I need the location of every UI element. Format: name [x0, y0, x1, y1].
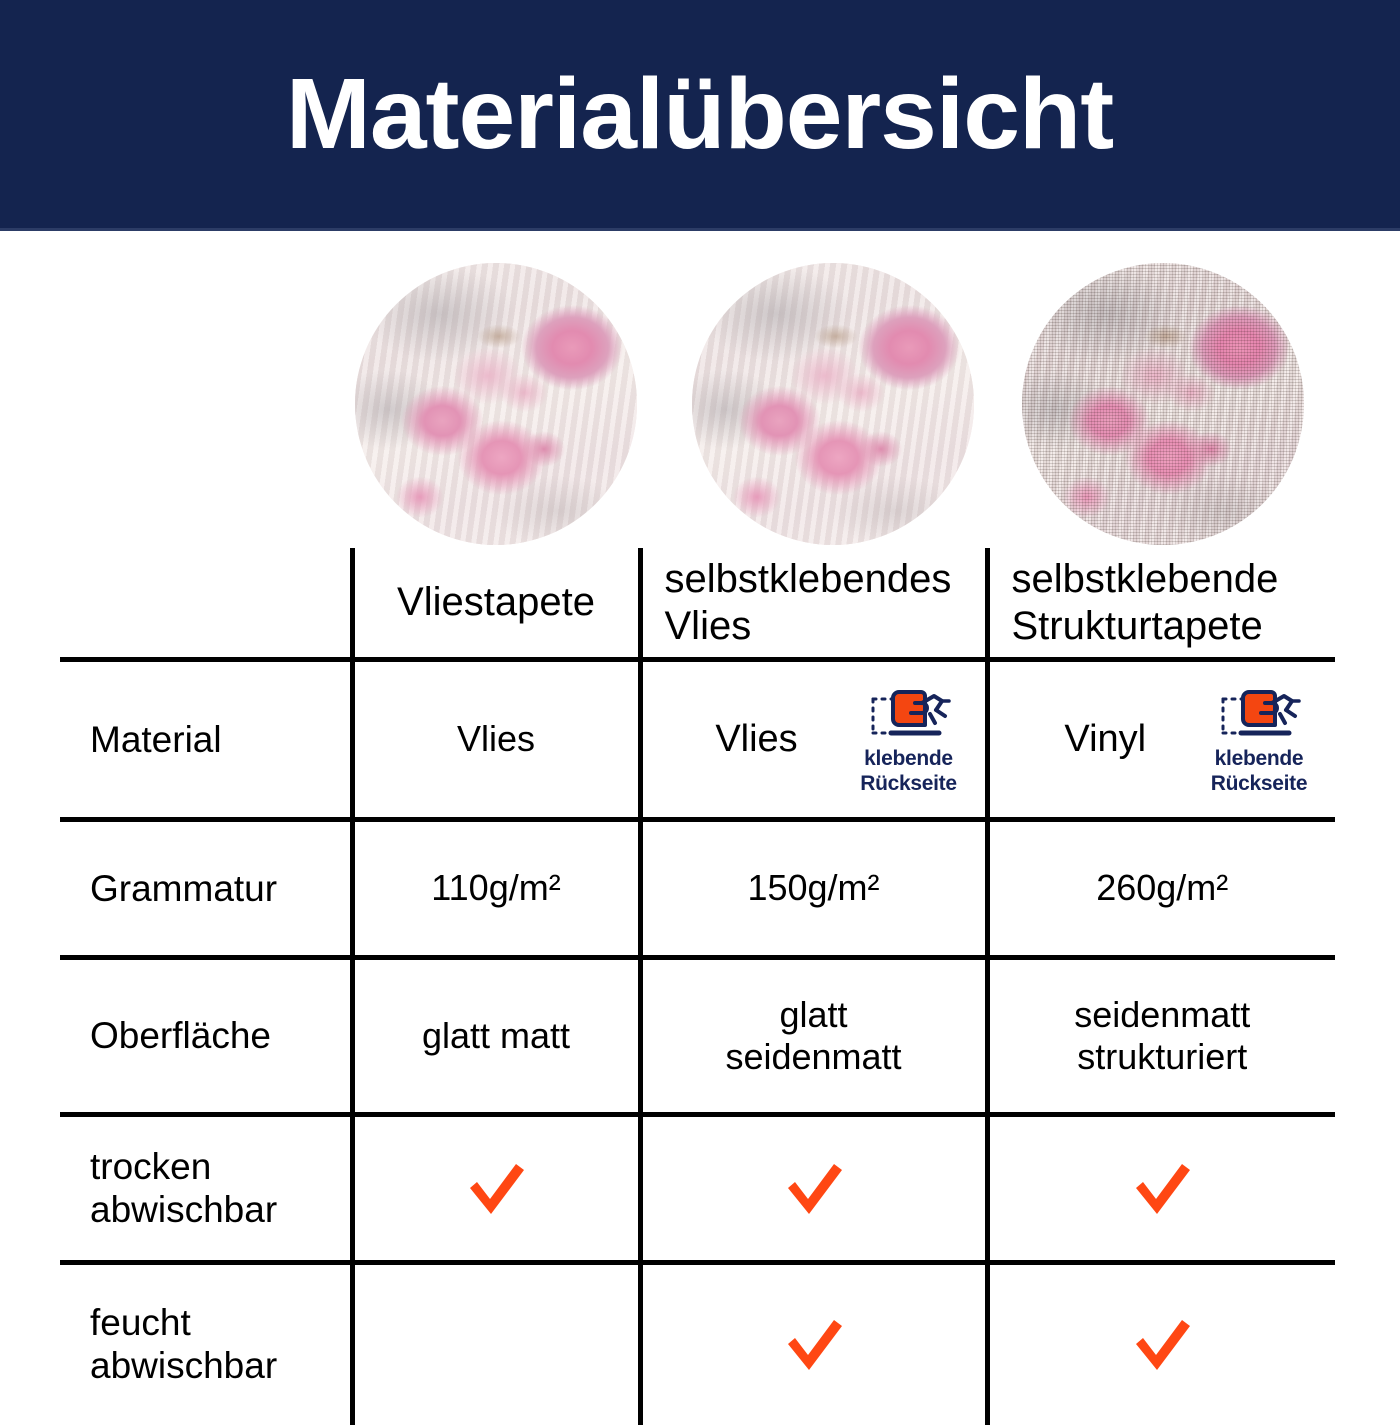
- row-label-trocken-abwischbar: trocken abwischbar: [60, 1115, 352, 1263]
- material-value: Vinyl: [1024, 718, 1198, 761]
- column-header-selbstklebendes-vlies: selbstklebendes Vlies: [640, 548, 987, 660]
- row-label-grammatur: Grammatur: [60, 820, 352, 958]
- wallpaper-pattern-image: [692, 263, 974, 545]
- peel-adhesive-backing-icon: [1211, 683, 1307, 745]
- cell-trocken-selbstklebendes-vlies: [640, 1115, 987, 1263]
- cell-material-selbstklebendes-vlies: Vlies: [640, 660, 987, 820]
- cell-feucht-strukturtapete: [987, 1263, 1335, 1425]
- checkmark-icon: [1127, 1158, 1197, 1220]
- table-row-material: Material Vlies Vlies: [60, 660, 1335, 820]
- cell-grammatur-vliestapete: 110g/m²: [352, 820, 640, 958]
- row-label-oberflaeche: Oberfläche: [60, 958, 352, 1115]
- table-row-grammatur: Grammatur 110g/m² 150g/m² 260g/m²: [60, 820, 1335, 958]
- cell-material-vliestapete: Vlies: [352, 660, 640, 820]
- cell-oberflaeche-vliestapete: glatt matt: [352, 958, 640, 1115]
- page-title: Materialübersicht: [286, 64, 1113, 164]
- adhesive-backing-label: klebende Rückseite: [1211, 747, 1308, 795]
- header-blank-cell: [60, 548, 352, 660]
- material-value: Vlies: [677, 718, 847, 761]
- swatch-strukturtapete: [1022, 263, 1304, 545]
- cell-trocken-vliestapete: [352, 1115, 640, 1263]
- checkmark-icon: [461, 1158, 531, 1220]
- swatch-row: [0, 263, 1400, 548]
- adhesive-backing-badge: klebende Rückseite: [847, 683, 971, 795]
- table-row-oberflaeche: Oberfläche glatt matt glatt seidenmatt s…: [60, 958, 1335, 1115]
- cell-grammatur-selbstklebendes-vlies: 150g/m²: [640, 820, 987, 958]
- row-label-feucht-abwischbar: feucht abwischbar: [60, 1263, 352, 1425]
- table-row-trocken-abwischbar: trocken abwischbar: [60, 1115, 1335, 1263]
- cell-trocken-strukturtapete: [987, 1115, 1335, 1263]
- table-header-row: Vliestapete selbstklebendes Vlies selbst…: [60, 548, 1335, 660]
- cell-oberflaeche-strukturtapete: seidenmatt strukturiert: [987, 958, 1335, 1115]
- material-comparison-table: Vliestapete selbstklebendes Vlies selbst…: [60, 548, 1335, 1400]
- checkmark-icon: [779, 1314, 849, 1376]
- page-header: Materialübersicht: [0, 0, 1400, 228]
- column-header-strukturtapete: selbstklebende Strukturtapete: [987, 548, 1335, 660]
- cell-oberflaeche-selbstklebendes-vlies: glatt seidenmatt: [640, 958, 987, 1115]
- swatch-vliestapete: [355, 263, 637, 545]
- cell-material-strukturtapete: Vinyl: [987, 660, 1335, 820]
- cell-feucht-vliestapete: [352, 1263, 640, 1425]
- adhesive-backing-label: klebende Rückseite: [860, 747, 957, 795]
- wallpaper-pattern-image: [355, 263, 637, 545]
- table-row-feucht-abwischbar: feucht abwischbar: [60, 1263, 1335, 1425]
- peel-adhesive-backing-icon: [861, 683, 957, 745]
- checkmark-icon: [779, 1158, 849, 1220]
- row-label-material: Material: [60, 660, 352, 820]
- swatch-selbstklebendes-vlies: [692, 263, 974, 545]
- column-header-vliestapete: Vliestapete: [352, 548, 640, 660]
- structure-texture-overlay: [1022, 263, 1304, 545]
- checkmark-icon: [1127, 1314, 1197, 1376]
- adhesive-backing-badge: klebende Rückseite: [1197, 683, 1321, 795]
- cell-grammatur-strukturtapete: 260g/m²: [987, 820, 1335, 958]
- cell-feucht-selbstklebendes-vlies: [640, 1263, 987, 1425]
- header-divider: [0, 228, 1400, 231]
